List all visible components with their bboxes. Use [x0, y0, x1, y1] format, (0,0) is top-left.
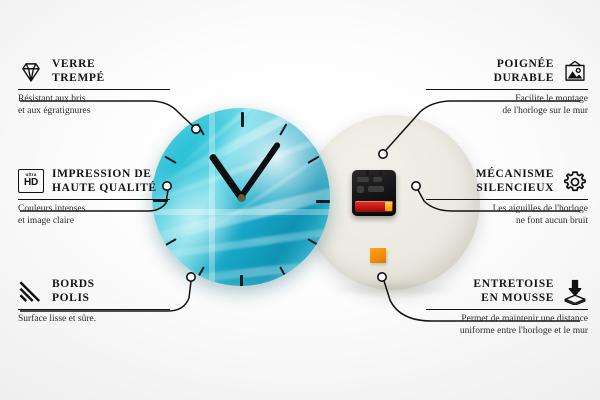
callout-description: Les aiguilles de l'horloge ne font aucun…: [426, 204, 588, 227]
callout-title: POIGNÉE DURABLE: [494, 58, 554, 85]
mechanism-detail: [357, 177, 391, 197]
callout-divider: [426, 309, 588, 310]
callout-impression-haute-qualite: ultra HD IMPRESSION DE HAUTE QUALITÉ Cou…: [18, 168, 170, 227]
callout-title: ENTRETOISE EN MOUSSE: [473, 278, 554, 305]
callout-description: Facilite le montage de l'horloge sur le …: [426, 94, 588, 117]
callout-title: MÉCANISME SILENCIEUX: [476, 168, 554, 195]
picture-frame-hanging-icon: [562, 59, 588, 85]
battery: [355, 201, 393, 212]
arrow-down-onto-foam-icon: [562, 279, 588, 305]
callout-entretoise-en-mousse: ENTRETOISE EN MOUSSE Permet de maintenir…: [426, 278, 588, 337]
callout-description: Résistant aux bris et aux égratignures: [18, 94, 170, 117]
ultra-hd-icon-main-label: HD: [24, 178, 38, 188]
infographic-canvas: VERRE TREMPÉ Résistant aux bris et aux é…: [0, 0, 600, 400]
callout-title: IMPRESSION DE HAUTE QUALITÉ: [52, 168, 157, 195]
callout-divider: [18, 309, 170, 310]
callout-divider: [18, 199, 170, 200]
callout-title: VERRE TREMPÉ: [52, 58, 105, 85]
clock-front-face: [152, 108, 330, 286]
callout-description: Permet de maintenir une distance uniform…: [426, 314, 588, 337]
callout-divider: [426, 199, 588, 200]
clock-mechanism: [352, 170, 396, 216]
callout-description: Couleurs intenses et image claire: [18, 204, 170, 227]
foam-spacer-pad: [370, 248, 386, 263]
callout-divider: [426, 89, 588, 90]
callout-poignee-durable: POIGNÉE DURABLE Facilite le montage de l…: [426, 58, 588, 117]
callout-verre-trempe: VERRE TREMPÉ Résistant aux bris et aux é…: [18, 58, 170, 117]
diagonal-lines-icon: [18, 279, 44, 305]
callout-bords-polis: BORDS POLIS Surface lisse et sûre.: [18, 278, 170, 326]
callout-description: Surface lisse et sûre.: [18, 314, 170, 326]
clock-center-cap: [238, 194, 245, 201]
diamond-icon: [18, 59, 44, 85]
ultra-hd-icon: ultra HD: [18, 169, 44, 195]
mechanism-hanging-loop: [366, 170, 382, 176]
gear-icon: [562, 169, 588, 195]
callout-mecanisme-silencieux: MÉCANISME SILENCIEUX Les aiguilles de l'…: [426, 168, 588, 227]
callout-title: BORDS POLIS: [52, 278, 95, 305]
callout-divider: [18, 89, 170, 90]
